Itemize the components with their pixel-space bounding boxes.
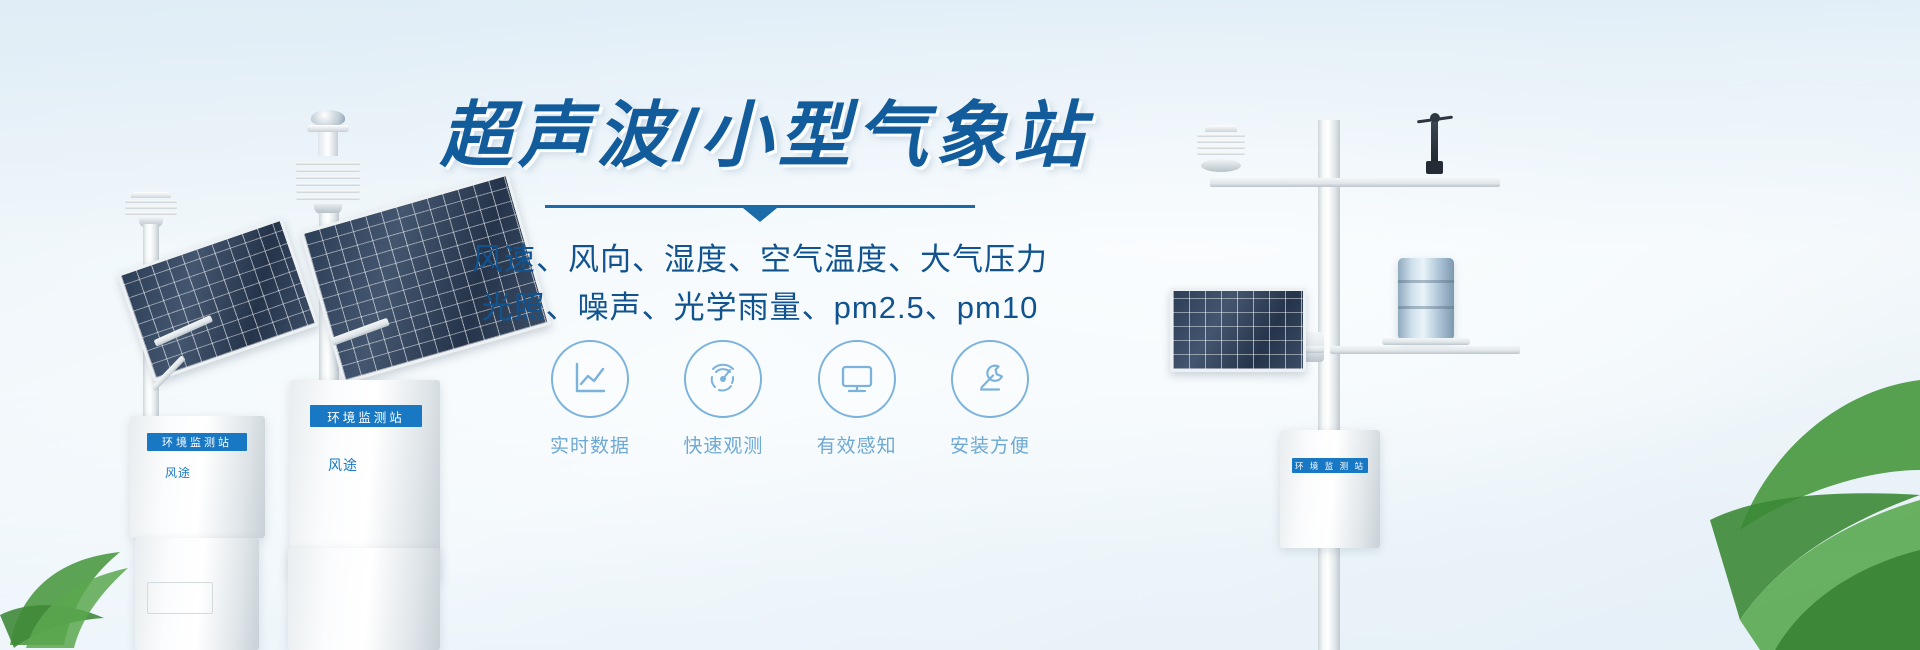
center-station-plate: 环境监测站	[310, 405, 422, 427]
right-weather-station: 环 境 监 测 站	[1170, 50, 1590, 650]
center-station-brand: 风途	[328, 455, 358, 475]
right-station-plate: 环 境 监 测 站	[1292, 458, 1368, 473]
feature-label: 实时数据	[530, 431, 650, 458]
subtitle-block: 风速、风向、湿度、空气温度、大气压力 光照、噪声、光学雨量、pm2.5、pm10	[440, 236, 1080, 332]
monitor-icon	[836, 358, 878, 400]
feature-icon-circle	[818, 340, 896, 418]
feature-label: 快速观测	[663, 431, 783, 458]
feature-item-realtime-data[interactable]: 实时数据	[530, 340, 650, 458]
feature-item-fast-observation[interactable]: 快速观测	[663, 340, 783, 458]
feature-item-effective-sensing[interactable]: 有效感知	[797, 340, 917, 458]
wrench-icon	[969, 358, 1011, 400]
subtitle-line-2: 光照、噪声、光学雨量、pm2.5、pm10	[440, 284, 1080, 332]
feature-label: 有效感知	[797, 431, 917, 458]
right-leaf-decoration	[1590, 320, 1920, 650]
feature-label: 安装方便	[930, 431, 1050, 458]
left-station-plate: 环境监测站	[147, 433, 247, 451]
banner-content: 超声波/小型气象站 风速、风向、湿度、空气温度、大气压力 光照、噪声、光学雨量、…	[440, 96, 1080, 332]
radar-sensor-icon	[703, 359, 743, 399]
title-divider	[545, 205, 975, 208]
feature-icon-circle	[684, 340, 762, 418]
subtitle-line-1: 风速、风向、湿度、空气温度、大气压力	[440, 236, 1080, 284]
feature-icon-circle	[551, 340, 629, 418]
divider-triangle-icon	[743, 208, 777, 222]
feature-item-easy-install[interactable]: 安装方便	[930, 340, 1050, 458]
feature-list: 实时数据 快速观测	[530, 340, 1050, 458]
page-title: 超声波/小型气象站	[440, 96, 1080, 177]
feature-icon-circle	[951, 340, 1029, 418]
line-chart-icon	[570, 359, 610, 399]
product-banner: 环境监测站 风途 环境监测站 风途	[0, 0, 1920, 650]
left-station-brand: 风途	[165, 464, 191, 481]
